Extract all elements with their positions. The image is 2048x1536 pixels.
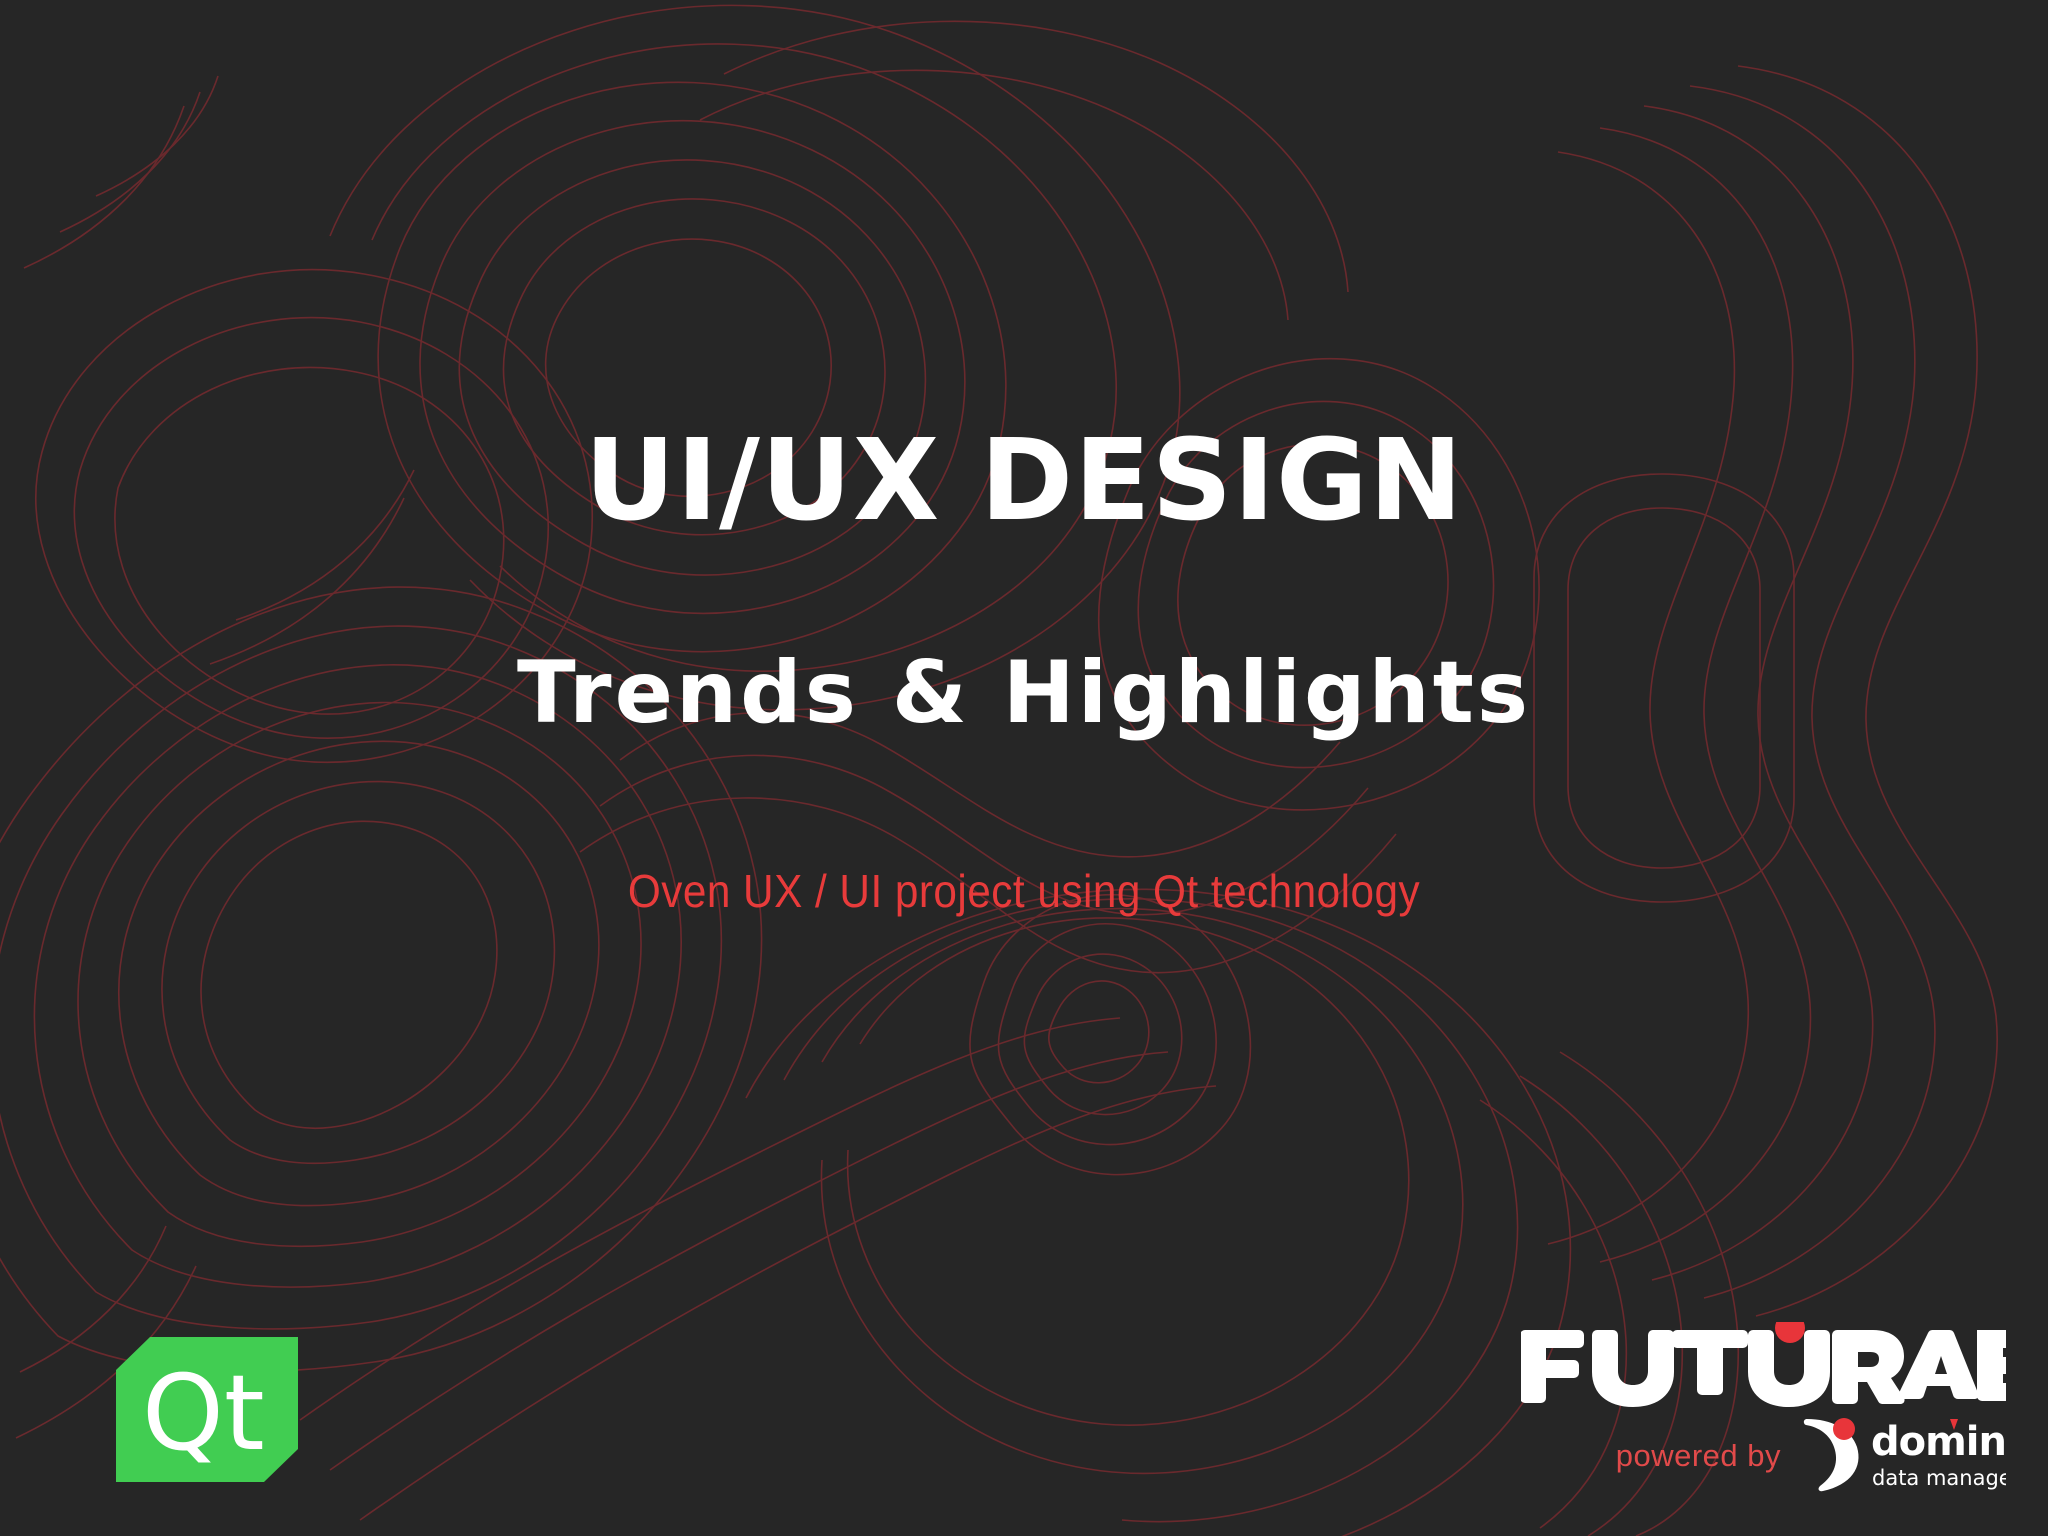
svg-text:Qt: Qt <box>142 1352 265 1474</box>
qt-badge-label: Qt <box>142 1352 265 1474</box>
qt-logo: Qt <box>116 1337 298 1482</box>
domina-logo: domina data management <box>1801 1417 2006 1495</box>
domina-tagline: data management <box>1872 1466 2006 1490</box>
domina-mark-dot <box>1833 1418 1855 1440</box>
futurae-accent-dot <box>1775 1322 1805 1343</box>
domina-wordmark: domina <box>1871 1419 2006 1465</box>
page-title: UI/UX DESIGN <box>0 425 2048 537</box>
page-tagline: Oven UX / UI project using Qt technology <box>82 868 1966 914</box>
page-subtitle: Trends & Highlights <box>0 650 2048 736</box>
brand-lockup: powered by domina data management <box>1446 1322 2006 1512</box>
slide-content: UI/UX DESIGN Trends & Highlights Oven UX… <box>0 0 2048 1536</box>
slide-canvas: UI/UX DESIGN Trends & Highlights Oven UX… <box>0 0 2048 1536</box>
powered-by-label: powered by <box>1616 1438 1781 1474</box>
powered-by-row: powered by domina data management <box>1616 1417 2006 1495</box>
futurae-wordmark <box>1521 1322 2006 1407</box>
